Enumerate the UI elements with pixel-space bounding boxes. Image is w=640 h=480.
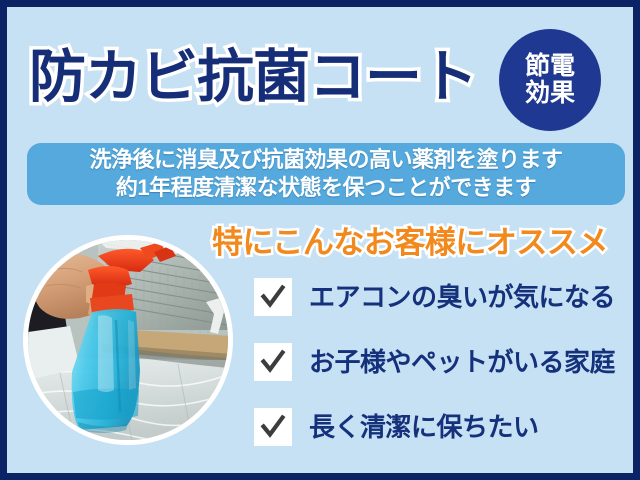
status-badge: 節電 効果	[499, 29, 601, 131]
badge-line-2: 効果	[525, 79, 575, 107]
page-title: 防カビ抗菌コート	[29, 37, 477, 117]
recommend-heading: 特にこんなお客様にオススメ	[212, 217, 608, 262]
list-item-label: 長く清潔に保ちたい	[309, 412, 539, 442]
list-item[interactable]: エアコンの臭いが気になる	[254, 277, 634, 317]
badge-line-1: 節電	[525, 52, 575, 80]
list-item-label: エアコンの臭いが気になる	[309, 282, 615, 312]
checkmark-icon[interactable]	[254, 278, 292, 316]
recommend-checklist: エアコンの臭いが気になる お子様やペットがいる家庭 長く清潔に保ちたい	[254, 277, 634, 472]
list-item[interactable]: お子様やペットがいる家庭	[254, 342, 634, 382]
spray-bottle-photo-illustration	[28, 240, 228, 440]
product-photo	[23, 235, 233, 445]
badge-text: 節電 効果	[525, 53, 575, 107]
promo-banner: 防カビ抗菌コート 節電 効果 洗浄後に消臭及び抗菌効果の高い薬剤を塗ります 約1…	[0, 0, 640, 480]
checkmark-icon[interactable]	[254, 343, 292, 381]
checkmark-icon[interactable]	[254, 408, 292, 446]
description-line-1: 洗浄後に消臭及び抗菌効果の高い薬剤を塗ります	[89, 146, 562, 174]
list-item[interactable]: 長く清潔に保ちたい	[254, 407, 634, 447]
description-banner: 洗浄後に消臭及び抗菌効果の高い薬剤を塗ります 約1年程度清潔な状態を保つことがで…	[27, 143, 625, 205]
description-line-2: 約1年程度清潔な状態を保つことができます	[116, 174, 536, 202]
list-item-label: お子様やペットがいる家庭	[309, 347, 615, 377]
